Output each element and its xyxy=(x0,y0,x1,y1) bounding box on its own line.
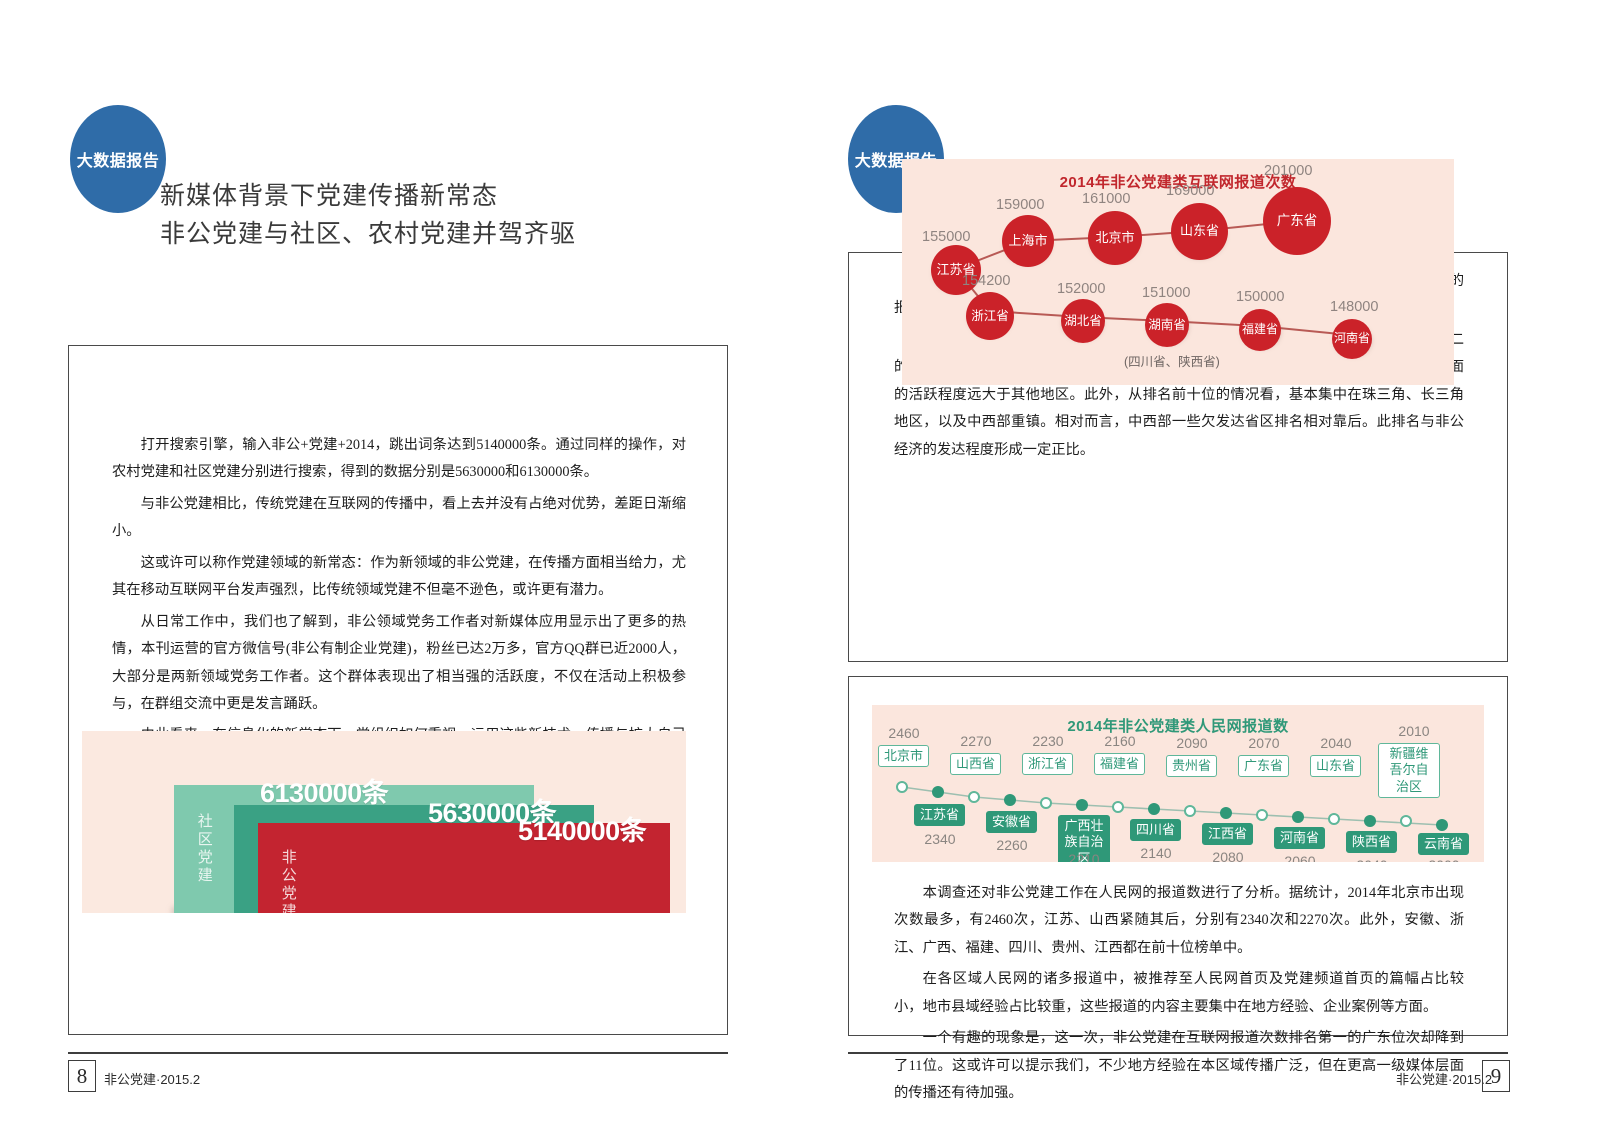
node-guangxi xyxy=(1076,799,1088,811)
paragraph: 从日常工作中，我们也了解到，非公领域党务工作者对新媒体应用显示出了更多的热情，本… xyxy=(112,609,686,719)
tag-xinjiang: 新疆维吾尔自治区 xyxy=(1378,743,1440,798)
bubble-value-shandong: 169000 xyxy=(1166,183,1214,199)
tag-jiangxi: 江西省 xyxy=(1202,823,1253,845)
left-page: 大数据报告 新媒体背景下党建传播新常态 非公党建与社区、农村党建并驾齐驱 打开搜… xyxy=(0,0,802,1125)
value-zhejiang: 2230 xyxy=(1026,733,1070,749)
value-anhui: 2260 xyxy=(990,837,1034,853)
tag-beijing: 北京市 xyxy=(878,745,929,767)
bubble-shandong: 山东省 xyxy=(1171,203,1228,260)
bubble-zhejiang: 浙江省 xyxy=(966,292,1014,340)
paragraph: 与非公党建相比，传统党建在互联网的传播中，看上去并没有占绝对优势，差距日渐缩小。 xyxy=(112,491,686,546)
page-number-left: 8 xyxy=(68,1060,96,1092)
tag-xinjiang-label: 新疆维吾尔自治区 xyxy=(1389,746,1428,794)
node-yunnan xyxy=(1436,819,1448,831)
node-shaanxi xyxy=(1364,815,1376,827)
bubble-value-beijing: 161000 xyxy=(1082,191,1130,207)
bubble-value-zhejiang: 154200 xyxy=(962,273,1010,289)
bar-value-non-public: 5140000条 xyxy=(518,809,646,848)
value-shaanxi: 2040 xyxy=(1350,857,1394,862)
footer-rule-left xyxy=(68,1052,728,1054)
node-beijing xyxy=(896,781,908,793)
tag-fujian: 福建省 xyxy=(1094,753,1145,775)
node-henan xyxy=(1292,811,1304,823)
tag-shaanxi: 陕西省 xyxy=(1346,831,1397,853)
bubble-fujian: 福建省 xyxy=(1239,309,1281,351)
bar-label-non-public: 非公党建 xyxy=(278,849,297,913)
line-chart-peoples-daily: 2014年非公党建类人民网报道数 2460 北京市 江苏省 2340 2270 … xyxy=(872,705,1484,862)
node-xinjiang xyxy=(1400,815,1412,827)
footer-meta-left: 非公党建·2015.2 xyxy=(104,1069,200,1088)
bubble-hubei: 湖北省 xyxy=(1061,299,1105,343)
bubble-value-shanghai: 159000 xyxy=(996,197,1044,213)
bubble-value-fujian: 150000 xyxy=(1236,289,1284,305)
page-title-left: 新媒体背景下党建传播新常态 非公党建与社区、农村党建并驾齐驱 xyxy=(160,178,576,253)
node-guangdong xyxy=(1256,809,1268,821)
node-sichuan xyxy=(1148,803,1160,815)
headline-line1: 新媒体背景下党建传播新常态 xyxy=(160,178,576,216)
paragraph: 本调查还对非公党建工作在人民网的报道数进行了分析。据统计，2014年北京市出现次… xyxy=(894,880,1464,962)
page-number-right: 9 xyxy=(1482,1060,1510,1092)
value-shandong: 2040 xyxy=(1314,735,1358,751)
bar-chart-search-results: 6130000条 社区党建 5630000条 农村党建 5140000条 非公党… xyxy=(82,731,686,913)
bubble-henan: 河南省 xyxy=(1332,319,1372,359)
node-fujian xyxy=(1112,801,1124,813)
value-jiangxi: 2080 xyxy=(1206,849,1250,862)
value-beijing: 2460 xyxy=(882,725,926,741)
node-guizhou xyxy=(1184,805,1196,817)
bubble-value-jiangsu: 155000 xyxy=(922,229,970,245)
bubble-value-hubei: 152000 xyxy=(1057,281,1105,297)
value-shanxi: 2270 xyxy=(954,733,998,749)
paragraph: 在各区域人民网的诸多报道中，被推荐至人民网首页及党建频道首页的篇幅占比较小，地市… xyxy=(894,966,1464,1021)
bubble-value-henan: 148000 xyxy=(1330,299,1378,315)
tag-zhejiang: 浙江省 xyxy=(1022,753,1073,775)
node-anhui xyxy=(1004,794,1016,806)
paragraph: 打开搜索引擎，输入非公+党建+2014，跳出词条达到5140000条。通过同样的… xyxy=(112,432,686,487)
bubble-value-hunan: 151000 xyxy=(1142,285,1190,301)
section-badge-label: 大数据报告 xyxy=(77,147,160,171)
tag-shandong: 山东省 xyxy=(1310,755,1361,777)
bubble-annotation-hunan: (四川省、陕西省) xyxy=(1124,351,1220,370)
tag-sichuan: 四川省 xyxy=(1130,819,1181,841)
tag-guangdong: 广东省 xyxy=(1238,755,1289,777)
bubble-guangdong: 广东省 xyxy=(1263,187,1331,255)
value-xinjiang: 2010 xyxy=(1390,723,1438,739)
article-body-bottom-right: 本调查还对非公党建工作在人民网的报道数进行了分析。据统计，2014年北京市出现次… xyxy=(894,880,1464,1112)
value-henan: 2060 xyxy=(1278,853,1322,862)
paragraph: 这或许可以称作党建领域的新常态：作为新领域的非公党建，在传播方面相当给力，尤其在… xyxy=(112,550,686,605)
tag-anhui: 安徽省 xyxy=(986,811,1037,833)
value-fujian: 2160 xyxy=(1098,733,1142,749)
section-badge-left: 大数据报告 xyxy=(70,105,166,213)
footer-rule-right xyxy=(848,1052,1508,1054)
node-jiangxi xyxy=(1220,807,1232,819)
tag-guizhou: 贵州省 xyxy=(1166,755,1217,777)
footer-meta-right: 非公党建·2015.2 xyxy=(1396,1069,1492,1088)
bubble-chart-internet-reports: 2014年非公党建类互联网报道次数 155000 江苏省 159000 上海市 … xyxy=(902,159,1454,385)
headline-line2: 非公党建与社区、农村党建并驾齐驱 xyxy=(160,216,576,254)
value-yunnan: 2000 xyxy=(1422,857,1466,862)
node-shandong xyxy=(1328,813,1340,825)
tag-jiangsu: 江苏省 xyxy=(914,804,965,826)
value-jiangsu: 2340 xyxy=(918,831,962,847)
tag-henan: 河南省 xyxy=(1274,827,1325,849)
node-zhejiang xyxy=(1040,797,1052,809)
node-shanxi xyxy=(968,791,980,803)
bubble-beijing: 北京市 xyxy=(1088,211,1142,265)
value-sichuan: 2140 xyxy=(1134,845,1178,861)
paragraph: 一个有趣的现象是，这一次，非公党建在互联网报道次数排名第一的广东位次却降到了11… xyxy=(894,1025,1464,1107)
bubble-hunan: 湖南省 xyxy=(1145,303,1189,347)
tag-shanxi: 山西省 xyxy=(950,753,1001,775)
bubble-value-guangdong: 201000 xyxy=(1264,163,1312,179)
value-guangxi: 2210 xyxy=(1062,851,1106,862)
tag-yunnan: 云南省 xyxy=(1418,833,1469,855)
right-page: 大数据报告 非公党建网络传播 珠三角、长三角和中西部重镇最活跃 2014年的互联… xyxy=(802,0,1604,1125)
node-jiangsu xyxy=(932,786,944,798)
value-guizhou: 2090 xyxy=(1170,735,1214,751)
bubble-shanghai: 上海市 xyxy=(1002,215,1054,267)
value-guangdong: 2070 xyxy=(1242,735,1286,751)
bar-label-community: 社区党建 xyxy=(194,813,213,885)
